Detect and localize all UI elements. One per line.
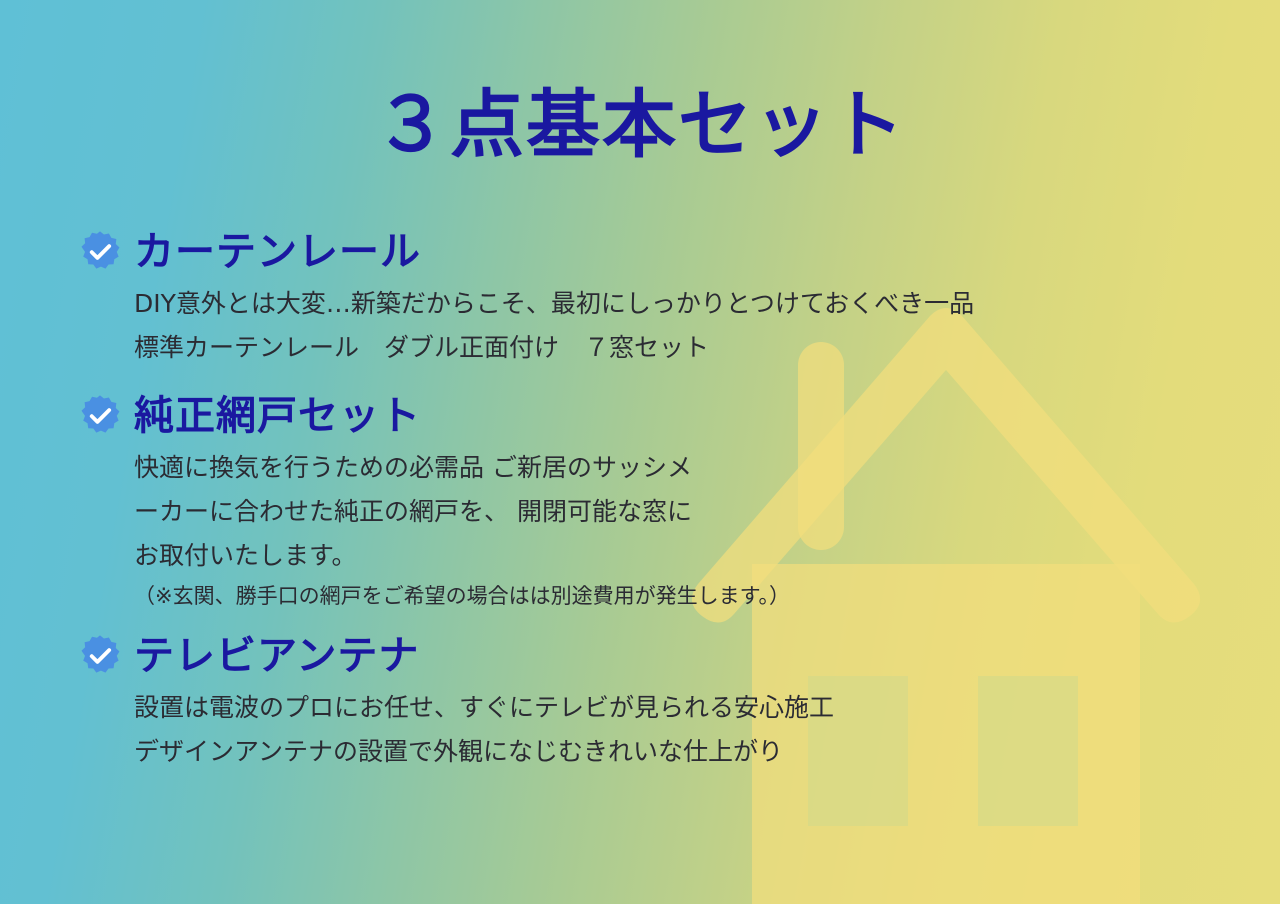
- feature-description: 設置は電波のプロにお任せ、すぐにテレビが見られる安心施工 デザインアンテナの設置…: [134, 686, 1228, 774]
- feature-line: お取付いたします。: [134, 534, 1228, 578]
- verified-check-icon: [78, 634, 122, 678]
- feature-title: カーテンレール: [134, 230, 421, 274]
- poster-content: ３点基本セット カーテンレール DIY意外とは大変…新築だからこそ、最初にしっか…: [0, 0, 1280, 904]
- feature-line: ーカーに合わせた純正の網戸を、 開閉可能な窓に: [134, 490, 1228, 534]
- feature-heading: 純正網戸セット: [78, 390, 1228, 442]
- verified-check-icon: [78, 394, 122, 438]
- feature-heading: カーテンレール: [78, 226, 1228, 278]
- feature-description: DIY意外とは大変…新築だからこそ、最初にしっかりとつけておくべき一品 標準カー…: [134, 282, 1228, 370]
- feature-item-screen-door-set: 純正網戸セット 快適に換気を行うための必需品 ご新居のサッシメ ーカーに合わせた…: [78, 390, 1228, 614]
- feature-line: DIY意外とは大変…新築だからこそ、最初にしっかりとつけておくべき一品: [134, 282, 1228, 326]
- feature-line: 快適に換気を行うための必需品 ご新居のサッシメ: [134, 446, 1228, 490]
- feature-line: 標準カーテンレール ダブル正面付け ７窓セット: [134, 326, 1228, 370]
- feature-title: テレビアンテナ: [134, 634, 419, 678]
- verified-check-icon: [78, 230, 122, 274]
- feature-line: デザインアンテナの設置で外観になじむきれいな仕上がり: [134, 730, 1228, 774]
- feature-heading: テレビアンテナ: [78, 630, 1228, 682]
- page-title: ３点基本セット: [0, 88, 1280, 162]
- feature-item-tv-antenna: テレビアンテナ 設置は電波のプロにお任せ、すぐにテレビが見られる安心施工 デザイ…: [78, 630, 1228, 774]
- feature-item-curtain-rail: カーテンレール DIY意外とは大変…新築だからこそ、最初にしっかりとつけておくべ…: [78, 226, 1228, 370]
- feature-description: 快適に換気を行うための必需品 ご新居のサッシメ ーカーに合わせた純正の網戸を、 …: [134, 446, 1228, 614]
- feature-line: 設置は電波のプロにお任せ、すぐにテレビが見られる安心施工: [134, 686, 1228, 730]
- feature-title: 純正網戸セット: [134, 394, 421, 438]
- feature-note: （※玄関、勝手口の網戸をご希望の場合はは別途費用が発生します。）: [134, 578, 1228, 614]
- promo-poster: ３点基本セット カーテンレール DIY意外とは大変…新築だからこそ、最初にしっか…: [0, 0, 1280, 904]
